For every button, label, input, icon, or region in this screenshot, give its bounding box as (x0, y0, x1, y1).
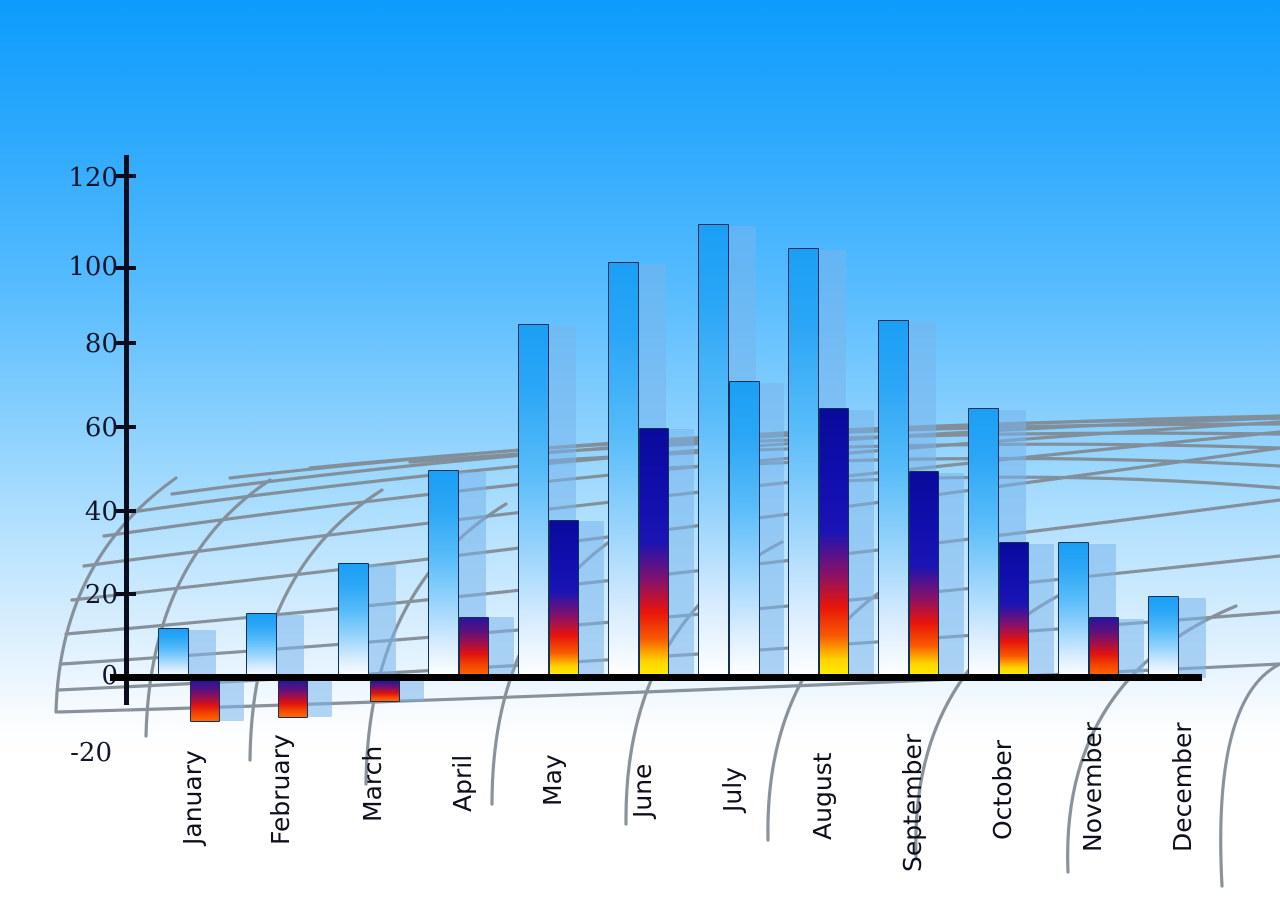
x-axis-label-january: January (178, 750, 207, 845)
bar-july-series-1[interactable] (698, 224, 729, 678)
x-axis-label-march: March (358, 746, 387, 822)
bar-december-series-1[interactable] (1148, 596, 1179, 678)
x-axis-label-july: July (718, 767, 747, 812)
x-axis-label-september: September (898, 734, 927, 872)
bar-april-series-1[interactable] (428, 470, 459, 678)
bar-october-series-2[interactable] (999, 542, 1029, 677)
bar-may-series-2[interactable] (549, 520, 579, 677)
x-axis-label-may: May (538, 754, 567, 806)
bar-august-series-2[interactable] (819, 408, 849, 677)
x-axis-label-october: October (988, 740, 1017, 840)
bar-september-series-2[interactable] (909, 471, 939, 677)
y-axis-tick-40 (116, 509, 136, 513)
bar-october-series-1[interactable] (968, 408, 999, 678)
bar-march-series-1[interactable] (338, 563, 369, 678)
bar-august-series-1[interactable] (788, 248, 819, 678)
y-axis-label-80: 80 (28, 329, 118, 359)
bar-chart-plot-area: 120 100 80 60 40 20 0 -20 (0, 0, 1280, 905)
bar-january-series-1[interactable] (158, 628, 189, 678)
y-axis-tick-20 (116, 592, 136, 596)
zero-baseline (110, 674, 1202, 681)
bar-may-series-1[interactable] (518, 324, 549, 678)
bar-november-series-2[interactable] (1089, 617, 1119, 677)
y-axis-label-40: 40 (28, 497, 118, 527)
y-axis-line (124, 155, 129, 705)
bar-april-series-2[interactable] (459, 617, 489, 677)
bar-june-series-2[interactable] (639, 428, 669, 677)
y-axis-label-60: 60 (28, 413, 118, 443)
y-axis-label-120: 120 (28, 163, 118, 193)
bar-march-series-2[interactable] (370, 680, 400, 702)
bar-february-series-1[interactable] (246, 613, 277, 678)
x-axis-label-august: August (808, 753, 837, 841)
y-axis-tick-60 (116, 425, 136, 429)
y-axis-label-minus-20: -20 (22, 738, 112, 768)
x-axis-label-november: November (1078, 722, 1107, 852)
bar-february-series-2[interactable] (278, 680, 308, 718)
y-axis-label-20: 20 (28, 580, 118, 610)
bar-july-series-2[interactable] (729, 381, 760, 677)
y-axis-tick-80 (116, 341, 136, 345)
bar-june-series-1[interactable] (608, 262, 639, 678)
x-axis-label-december: December (1168, 722, 1197, 852)
bar-january-series-2[interactable] (190, 680, 220, 722)
y-axis-label-0: 0 (28, 661, 118, 691)
y-axis-label-100: 100 (28, 252, 118, 282)
bar-september-series-1[interactable] (878, 320, 909, 678)
y-axis-tick-100 (116, 266, 136, 270)
y-axis-tick-120 (116, 174, 136, 178)
bar-november-series-1[interactable] (1058, 542, 1089, 678)
x-axis-label-february: February (266, 734, 295, 845)
x-axis-label-june: June (628, 764, 657, 818)
x-axis-label-april: April (448, 755, 477, 812)
